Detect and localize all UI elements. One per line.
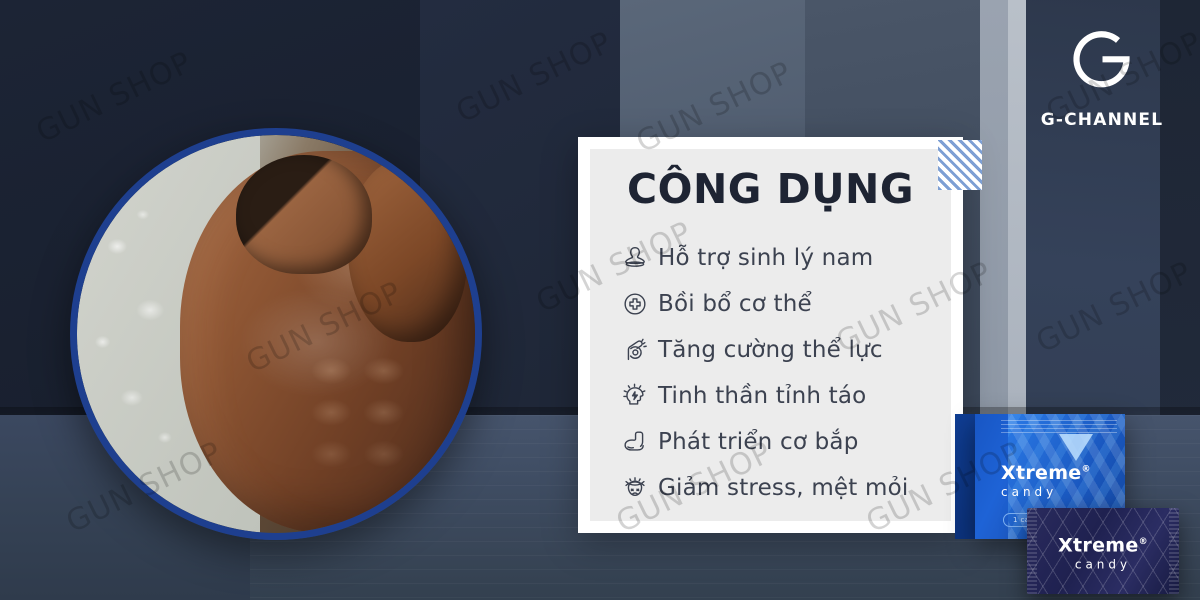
triangle-accent xyxy=(1059,434,1093,461)
list-item: Phát triển cơ bắp xyxy=(612,419,945,465)
sachet-left-crimp xyxy=(1027,508,1037,594)
benefit-label: Hỗ trợ sinh lý nam xyxy=(658,245,873,271)
list-item: Tinh thần tỉnh táo xyxy=(612,373,945,419)
hero-photo-circle xyxy=(70,128,482,540)
person-bust-icon xyxy=(612,243,658,273)
promo-banner: CÔNG DỤNG Hỗ trợ sinh lý nam xyxy=(0,0,1200,600)
list-item: Giảm stress, mệt mỏi xyxy=(612,465,945,511)
benefit-label: Giảm stress, mệt mỏi xyxy=(658,475,908,501)
box-fine-print xyxy=(1001,420,1117,434)
product-sachet: Xtreme® candy xyxy=(1027,508,1179,594)
abs-highlight xyxy=(292,342,422,502)
card-title: CÔNG DỤNG xyxy=(578,165,963,213)
benefits-list: Hỗ trợ sinh lý nam Bồi bổ cơ thể xyxy=(612,235,945,511)
brand-name: G-CHANNEL xyxy=(1022,110,1182,130)
benefit-label: Bồi bổ cơ thể xyxy=(658,291,812,317)
hero-photo xyxy=(77,135,475,533)
list-item: Hỗ trợ sinh lý nam xyxy=(612,235,945,281)
sachet-branding: Xtreme® candy xyxy=(1058,534,1148,571)
hand-squeeze-icon xyxy=(612,335,658,365)
sachet-brand-text: Xtreme xyxy=(1058,534,1138,556)
brand-logo: G-CHANNEL xyxy=(1022,14,1182,130)
list-item: Bồi bổ cơ thể xyxy=(612,281,945,327)
product-box-side xyxy=(955,414,977,539)
raised-arm xyxy=(348,159,467,342)
trademark-symbol: ® xyxy=(1081,465,1090,475)
medical-plus-circle-icon xyxy=(612,289,658,319)
sachet-right-crimp xyxy=(1169,508,1179,594)
g-circle-icon xyxy=(1056,14,1148,106)
product-box-branding: Xtreme® candy xyxy=(1001,462,1091,499)
list-item: Tăng cường thể lực xyxy=(612,327,945,373)
benefit-label: Tăng cường thể lực xyxy=(658,337,883,363)
head-lightning-icon xyxy=(612,381,658,411)
sachet-brand: Xtreme® xyxy=(1058,534,1148,556)
trademark-symbol: ® xyxy=(1139,537,1148,547)
product-subtitle: candy xyxy=(1001,485,1091,499)
flexed-biceps-icon xyxy=(612,427,658,457)
stressed-face-icon xyxy=(612,473,658,503)
head xyxy=(236,155,371,274)
benefit-label: Tinh thần tỉnh táo xyxy=(658,383,866,409)
sachet-subtitle: candy xyxy=(1058,557,1148,571)
benefits-card: CÔNG DỤNG Hỗ trợ sinh lý nam xyxy=(578,137,963,533)
benefit-label: Phát triển cơ bắp xyxy=(658,429,859,455)
hatch-decoration xyxy=(938,140,982,190)
product-brand-text: Xtreme xyxy=(1001,462,1081,484)
product-group: Xtreme® candy 1 candies Xtreme® candy xyxy=(955,400,1200,600)
product-brand: Xtreme® xyxy=(1001,462,1091,484)
